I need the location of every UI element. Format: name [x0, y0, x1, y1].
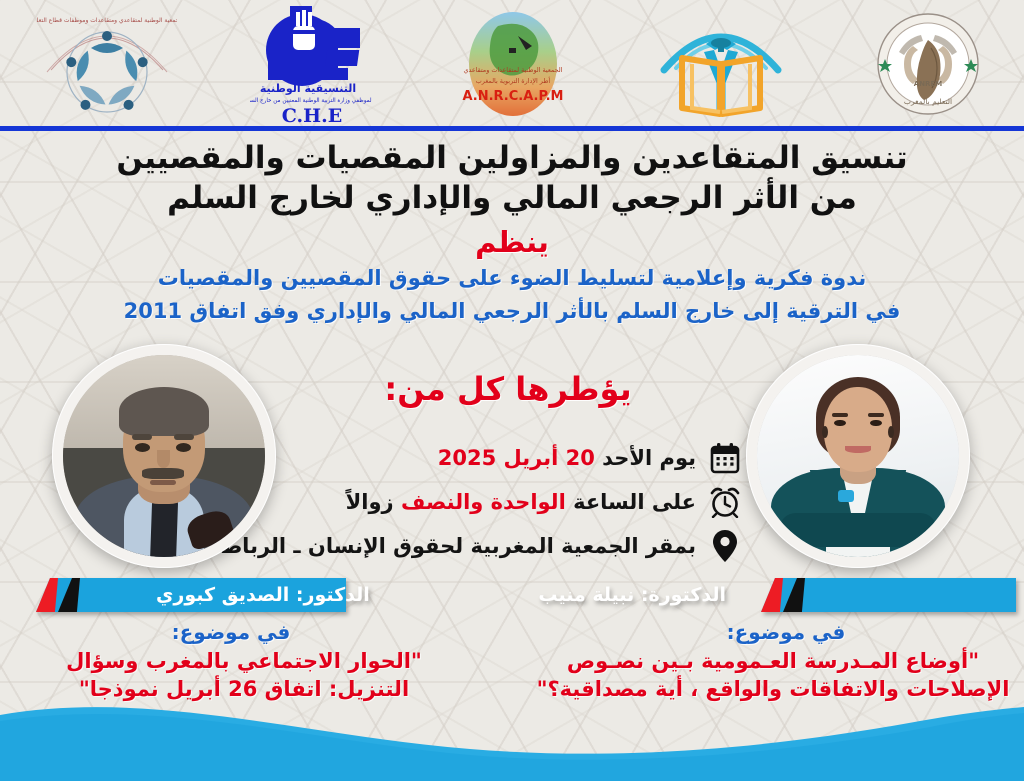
speaker-name-banner-right: الدكتورة: نبيلة منيب [526, 578, 1016, 612]
anrcapm-logo: الجمعية الوطنية لمتقاعدات ومتقاعدي أطر ا… [454, 8, 572, 120]
banner-red-stripe [761, 578, 783, 612]
event-date-text: يوم الأحد 20 أبريل 2025 [438, 446, 696, 470]
anrem-logo: ANREM التعليم بالمغرب [869, 8, 987, 120]
svg-text:ANREM: ANREM [914, 80, 942, 88]
che-logo: التنسيقية الوطنية لموظفي وزارة التربية ا… [250, 2, 380, 126]
organizes-label: ينظم [0, 225, 1024, 259]
svg-text:التنسيقية الوطنية: التنسيقية الوطنية [260, 82, 356, 95]
speaker-photo-left [52, 344, 276, 568]
svg-text:الجمعية الوطنية لمتقاعدات ومتق: الجمعية الوطنية لمتقاعدات ومتقاعدي [464, 66, 563, 74]
title-line-1: تنسيق المتقاعدين والمزاولين المقصيات وال… [0, 138, 1024, 178]
svg-text:أطر الإدارة التربوية بالمغرب: أطر الإدارة التربوية بالمغرب [476, 76, 551, 85]
title-block: تنسيق المتقاعدين والمزاولين المقصيات وال… [0, 138, 1024, 259]
subject-label-right: في موضوع: [526, 620, 1016, 644]
calendar-icon [708, 440, 742, 476]
location-pin-icon [708, 528, 742, 564]
event-detail-date: يوم الأحد 20 أبريل 2025 [272, 440, 742, 476]
speaker-name-right: الدكتورة: نبيلة منيب [538, 584, 726, 606]
national-coordination-logo: الجمعية الوطنية لمتقاعدي ومتقاعدات وموظف… [37, 8, 177, 120]
title-line-2: من الأثر الرجعي المالي والإداري لخارج ال… [0, 178, 1024, 218]
logo-strip: ANREM التعليم بالمغرب [0, 0, 1024, 128]
education-book-logo [646, 8, 796, 120]
description-line-2: في الترقية إلى خارج السلم بالأثر الرجعي … [0, 295, 1024, 328]
avatar-male [63, 355, 265, 557]
subject-label-left: في موضوع: [6, 620, 496, 644]
header-divider [0, 126, 1024, 131]
bottom-wave-decoration [0, 681, 1024, 781]
description-line-1: ندوة فكرية وإعلامية لتسليط الضوء على حقو… [0, 262, 1024, 295]
svg-text:C.H.E: C.H.E [282, 105, 342, 126]
svg-text:لموظفي وزارة التربية الوطنية ا: لموظفي وزارة التربية الوطنية المعنيين من… [250, 98, 372, 104]
banner-red-stripe [36, 578, 58, 612]
speaker-photo-right [746, 344, 970, 568]
event-time-text: على الساعة الواحدة والنصف زوالاً [346, 490, 696, 514]
avatar-female [757, 355, 959, 557]
speaker-name-left: الدكتور: الصديق كبوري [156, 584, 370, 606]
event-details-list: يوم الأحد 20 أبريل 2025 على الساعة الواح… [272, 440, 742, 572]
event-detail-time: على الساعة الواحدة والنصف زوالاً [272, 484, 742, 520]
description-block: ندوة فكرية وإعلامية لتسليط الضوء على حقو… [0, 262, 1024, 327]
poster-canvas: ANREM التعليم بالمغرب [0, 0, 1024, 781]
moderated-by-heading: يؤطرها كل من: [288, 370, 728, 408]
alarm-clock-icon [708, 484, 742, 520]
event-detail-location: بمقر الجمعية المغربية لحقوق الإنسان ـ ال… [272, 528, 742, 564]
svg-text:الجمعية الوطنية لمتقاعدي ومتقا: الجمعية الوطنية لمتقاعدي ومتقاعدات وموظف… [37, 17, 177, 24]
subject-left-line-1: "الحوار الاجتماعي بالمغرب وسؤال [6, 647, 482, 675]
speaker-name-banner-left: الدكتور: الصديق كبوري [6, 578, 496, 612]
subject-right-line-1: "أوضاع المـدرسة العـمومية بـين نصـوص [530, 647, 1016, 675]
svg-text:التعليم بالمغرب: التعليم بالمغرب [904, 97, 952, 106]
svg-text:A.N.R.C.A.P.M: A.N.R.C.A.P.M [463, 89, 564, 104]
event-location-text: بمقر الجمعية المغربية لحقوق الإنسان ـ ال… [220, 534, 696, 558]
